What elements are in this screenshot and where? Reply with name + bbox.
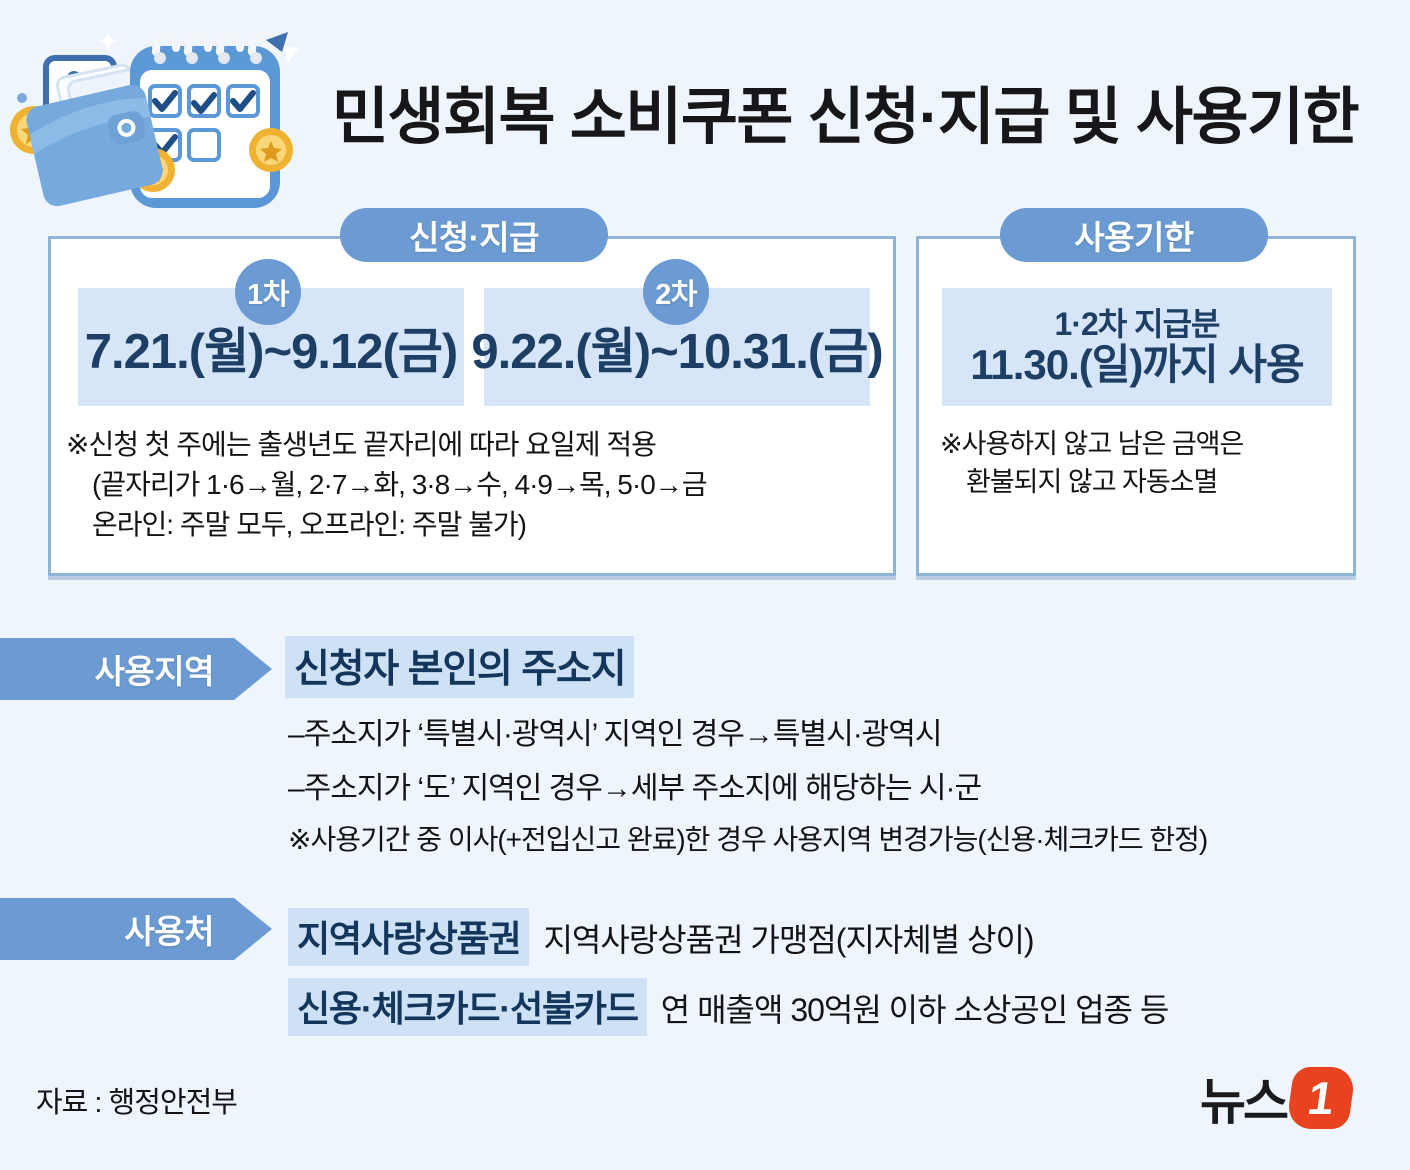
usage-region-headline-wrap: 신청자 본인의 주소지 bbox=[285, 636, 634, 698]
round-2-badge: 2차 bbox=[643, 259, 709, 325]
usage-period-line-1: 1·2차 지급분 bbox=[1055, 307, 1220, 342]
store-row-1-label: 지역사랑상품권 bbox=[288, 908, 529, 966]
round-1-badge: 1차 bbox=[235, 259, 301, 325]
apply-payment-pill-label: 신청·지급 bbox=[340, 208, 608, 262]
usage-region-tag: 사용지역 bbox=[0, 638, 272, 700]
store-row-2-description: 연 매출액 30억원 이하 소상공인 업종 등 bbox=[661, 985, 1169, 1031]
usage-period-dates: 1·2차 지급분 11.30.(일)까지 사용 bbox=[942, 288, 1332, 406]
usage-region-line-1: –주소지가 ‘특별시·광역시’ 지역인 경우→특별시·광역시 bbox=[288, 709, 942, 753]
store-row-2-label: 신용·체크카드·선불카드 bbox=[288, 978, 647, 1036]
usage-store-tag: 사용처 bbox=[0, 898, 272, 960]
calendar-wallet-coins-illustration bbox=[8, 18, 304, 223]
usage-period-panel bbox=[916, 236, 1356, 576]
store-row-1-description: 지역사랑상품권 가맹점(지자체별 상이) bbox=[543, 915, 1033, 961]
usage-region-headline: 신청자 본인의 주소지 bbox=[285, 636, 634, 698]
infographic-root: 민생회복 소비쿠폰 신청·지급 및 사용기한 신청·지급 7.21.(월)~9.… bbox=[0, 0, 1410, 1170]
period-note-line-1: ※사용하지 않고 남은 금액은 bbox=[940, 425, 1243, 463]
apply-note-line-2: (끝자리가 1·6→월, 2·7→화, 3·8→수, 4·9→목, 5·0→금 bbox=[66, 465, 707, 505]
apply-note-line-1: ※신청 첫 주에는 출생년도 끝자리에 따라 요일제 적용 bbox=[66, 425, 707, 465]
usage-region-line-2: –주소지가 ‘도’ 지역인 경우→세부 주소지에 해당하는 시·군 bbox=[288, 763, 981, 807]
usage-period-note: ※사용하지 않고 남은 금액은 환불되지 않고 자동소멸 bbox=[940, 425, 1243, 502]
news1-logo-word: 뉴스 bbox=[1200, 1062, 1286, 1134]
source-credit: 자료 : 행정안전부 bbox=[36, 1079, 237, 1121]
page-title: 민생회복 소비쿠폰 신청·지급 및 사용기한 bbox=[300, 62, 1390, 160]
usage-region-line-3: ※사용기간 중 이사(+전입신고 완료)한 경우 사용지역 변경가능(신용·체크… bbox=[288, 818, 1207, 858]
news1-logo: 뉴스 1 bbox=[1200, 1062, 1352, 1134]
apply-note-line-3: 온라인: 주말 모두, 오프라인: 주말 불가) bbox=[66, 505, 707, 545]
apply-payment-note: ※신청 첫 주에는 출생년도 끝자리에 따라 요일제 적용 (끝자리가 1·6→… bbox=[66, 425, 707, 544]
news1-logo-mark: 1 bbox=[1286, 1067, 1357, 1129]
store-row: 지역사랑상품권 지역사랑상품권 가맹점(지자체별 상이) bbox=[288, 908, 1034, 966]
usage-period-pill-label: 사용기한 bbox=[1000, 208, 1268, 262]
period-note-line-2: 환불되지 않고 자동소멸 bbox=[940, 463, 1243, 501]
usage-period-line-2: 11.30.(일)까지 사용 bbox=[970, 342, 1303, 387]
store-row: 신용·체크카드·선불카드 연 매출액 30억원 이하 소상공인 업종 등 bbox=[288, 978, 1168, 1036]
